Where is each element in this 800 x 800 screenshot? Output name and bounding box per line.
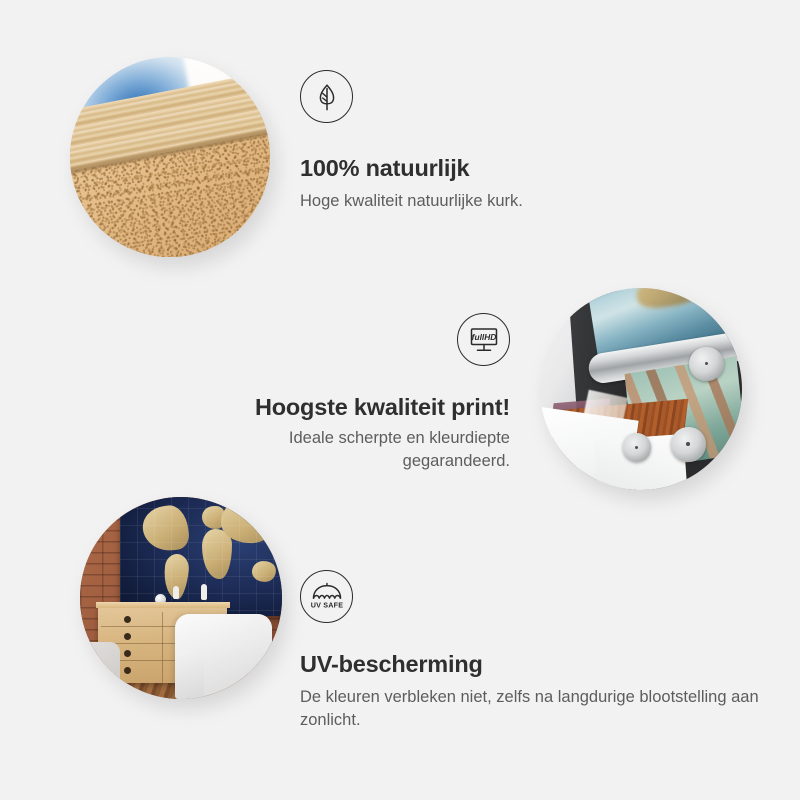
printing-machine-photo xyxy=(540,288,742,490)
feature-title: UV-bescherming xyxy=(300,651,800,678)
promo-canvas: 100% natuurlijk Hoge kwaliteit natuurlij… xyxy=(0,0,800,800)
uv-safe-icon-label: UV SAFE xyxy=(310,600,343,609)
cork-texture-photo xyxy=(70,57,270,257)
leaf-icon xyxy=(300,70,353,123)
dresser-knob xyxy=(124,667,131,674)
feature-print-quality: fullHD Hoogste kwaliteit print! Ideale s… xyxy=(222,313,510,473)
feature-subtitle: Ideale scherpte en kleurdiepte gegarande… xyxy=(222,427,510,473)
fullhd-monitor-icon: fullHD xyxy=(457,313,510,366)
feature-title: Hoogste kwaliteit print! xyxy=(222,394,510,421)
printer-wheel-top xyxy=(689,347,723,381)
armchair-arm xyxy=(175,650,204,699)
interior-world-map-photo xyxy=(80,497,282,699)
white-armchair xyxy=(175,614,272,699)
armchair-secondary xyxy=(80,642,120,699)
dresser-top xyxy=(96,602,230,608)
printer-wheel-right xyxy=(671,427,705,461)
dresser-center-split xyxy=(162,612,163,683)
feature-title: 100% natuurlijk xyxy=(300,155,523,182)
feature-uv-protection: UV SAFE UV-bescherming De kleuren verble… xyxy=(300,570,800,732)
fullhd-icon-label: fullHD xyxy=(471,332,496,342)
uv-safe-umbrella-icon: UV SAFE xyxy=(300,570,353,623)
dresser-knob xyxy=(124,616,131,623)
printer-wheel-center xyxy=(623,433,651,461)
decor-vase-a xyxy=(173,586,179,599)
decor-vase-b xyxy=(201,584,207,600)
dresser-knob xyxy=(124,633,131,640)
feature-subtitle: Hoge kwaliteit natuurlijke kurk. xyxy=(300,190,523,213)
dresser-knob xyxy=(124,650,131,657)
feature-subtitle: De kleuren verbleken niet, zelfs na lang… xyxy=(300,686,800,732)
feature-natural: 100% natuurlijk Hoge kwaliteit natuurlij… xyxy=(300,70,523,213)
